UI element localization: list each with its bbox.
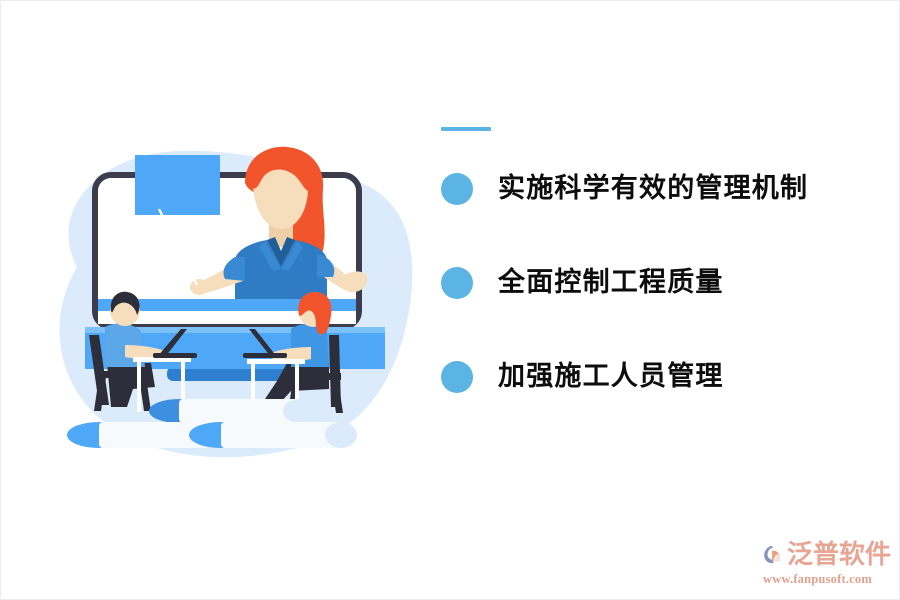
bullet-dot-icon [441,173,473,205]
desk-right-top [247,359,305,364]
bullet-list-panel: 实施科学有效的管理机制 全面控制工程质量 加强施工人员管理 [441,127,881,393]
accent-rule [441,127,491,131]
book-upper-left [179,399,299,423]
brand-url: www.fanpusoft.com [763,572,891,587]
list-item: 加强施工人员管理 [441,361,881,393]
bullet-label: 实施科学有效的管理机制 [498,174,808,204]
teacher-hand-left [190,279,208,295]
bullet-label: 全面控制工程质量 [498,268,724,298]
presentation-board [135,155,220,215]
online-classroom-illustration [29,139,419,469]
bullet-dot-icon [441,361,473,393]
bullet-dot-icon [441,267,473,299]
laptop-right-base [243,353,287,358]
brand-logo-row: 泛普软件 [763,537,891,571]
desk-left-leg [137,362,141,412]
brand-watermark: 泛普软件 www.fanpusoft.com [763,537,891,589]
brand-wordmark: 泛普软件 [787,538,891,570]
book-lower-right-end [325,422,357,448]
list-item: 实施科学有效的管理机制 [441,173,881,205]
book-lower-mid [221,422,341,448]
list-item: 全面控制工程质量 [441,267,881,299]
book-upper-right-end [283,399,315,423]
slide-canvas: 实施科学有效的管理机制 全面控制工程质量 加强施工人员管理 泛普软件 www.f… [0,0,900,600]
bullet-label: 加强施工人员管理 [498,362,724,392]
laptop-left-base [153,353,197,358]
fanpusoft-logo-icon [763,538,785,570]
